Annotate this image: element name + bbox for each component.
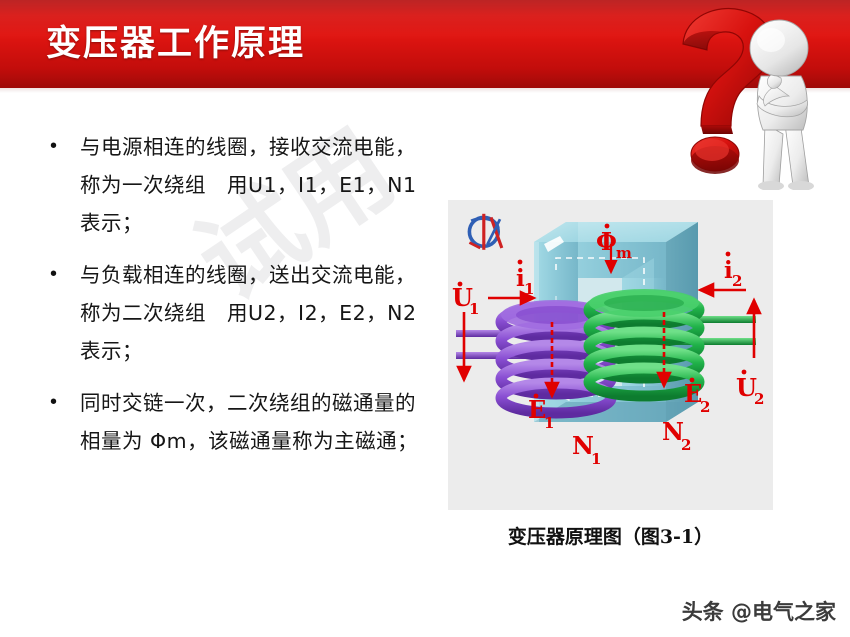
label-secondary-emf-sub: 2 <box>700 398 710 416</box>
thinking-person-icon <box>750 20 814 190</box>
label-secondary-turns-sub: 2 <box>681 436 691 454</box>
bullet-marker: • <box>44 128 80 164</box>
label-primary-current-sub: 1 <box>524 280 534 298</box>
slide-root: 变压器工作原理 <box>0 0 850 637</box>
bullet-text: 同时交链一次，二次绕组的磁通量的相量为 Φm，该磁通量称为主磁通； <box>80 384 434 460</box>
label-secondary-voltage-sub: 2 <box>754 390 764 408</box>
label-flux-sub: m <box>616 244 632 262</box>
list-item: • 与负载相连的线圈，送出交流电能，称为二次绕组 用U2，I2，E2，N2表示； <box>44 256 434 370</box>
publisher-logo-icon <box>469 214 501 250</box>
question-mark-thinker-graphic <box>655 0 850 190</box>
transformer-diagram: U 1 i 1 Φ m i 2 U 2 E <box>448 200 773 510</box>
bullet-text: 与电源相连的线圈，接收交流电能，称为一次绕组 用U1，I1，E1，N1表示； <box>80 128 434 242</box>
list-item: • 与电源相连的线圈，接收交流电能，称为一次绕组 用U1，I1，E1，N1表示； <box>44 128 434 242</box>
bullet-text: 与负载相连的线圈，送出交流电能，称为二次绕组 用U2，I2，E2，N2表示； <box>80 256 434 370</box>
figure-caption: 变压器原理图（图3-1） <box>448 524 773 550</box>
bullet-list: • 与电源相连的线圈，接收交流电能，称为一次绕组 用U1，I1，E1，N1表示；… <box>44 128 434 474</box>
label-primary-emf-sub: 1 <box>544 414 554 432</box>
footer-watermark: 头条 @电气之家 <box>682 599 836 625</box>
label-flux: Φ <box>596 227 617 256</box>
label-secondary-current-sub: 2 <box>732 272 742 290</box>
label-primary-turns-sub: 1 <box>591 450 601 468</box>
bullet-marker: • <box>44 256 80 292</box>
label-primary-voltage-sub: 1 <box>469 300 479 318</box>
bullet-marker: • <box>44 384 80 420</box>
page-title: 变压器工作原理 <box>46 22 305 66</box>
list-item: • 同时交链一次，二次绕组的磁通量的相量为 Φm，该磁通量称为主磁通； <box>44 384 434 460</box>
